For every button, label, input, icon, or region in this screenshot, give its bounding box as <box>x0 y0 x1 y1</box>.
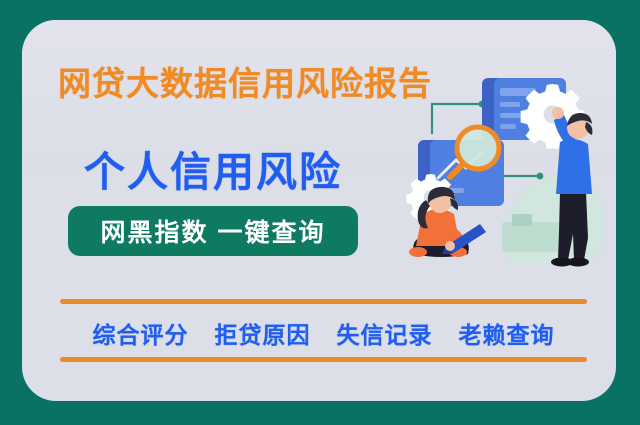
query-cta-button[interactable]: 网黑指数 一键查询 <box>68 206 358 256</box>
connector-node <box>537 173 544 180</box>
query-cta-label: 网黑指数 一键查询 <box>101 213 326 249</box>
divider-top <box>60 299 587 304</box>
poster-canvas: 网贷大数据信用风险报告 个人信用风险 网黑指数 一键查询 综合评分 拒贷原因 失… <box>0 0 640 425</box>
credit-risk-analysis-illustration <box>390 64 616 284</box>
page-subtitle: 个人信用风险 <box>84 138 342 198</box>
feature-tag[interactable]: 老赖查询 <box>459 316 555 350</box>
feature-tag[interactable]: 拒贷原因 <box>215 316 311 350</box>
feature-tag[interactable]: 综合评分 <box>93 316 189 350</box>
feature-tag-list: 综合评分 拒贷原因 失信记录 老赖查询 <box>60 311 587 355</box>
page-title: 网贷大数据信用风险报告 <box>58 57 432 105</box>
feature-tag[interactable]: 失信记录 <box>337 316 433 350</box>
divider-bottom <box>60 357 587 362</box>
content-card: 网贷大数据信用风险报告 个人信用风险 网黑指数 一键查询 综合评分 拒贷原因 失… <box>22 20 616 401</box>
